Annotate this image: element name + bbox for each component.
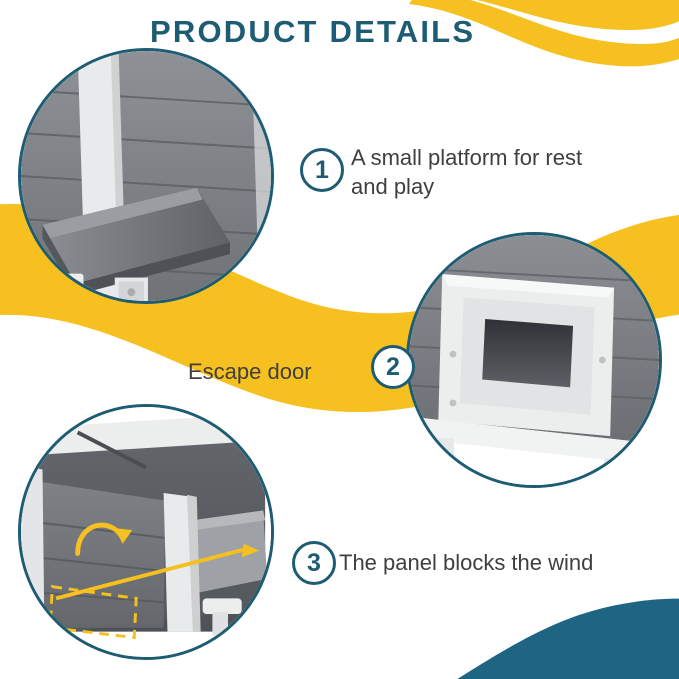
step-badge-2: 2 <box>371 345 415 389</box>
product-photo-escape-door <box>406 232 662 488</box>
step-caption-1: A small platform for rest and play <box>351 143 591 201</box>
step-badge-1: 1 <box>300 148 344 192</box>
product-details-page: PRODUCT DETAILS <box>0 0 679 679</box>
escape-door-photo-illustration <box>409 235 659 485</box>
wind-panel-photo-illustration <box>21 407 271 657</box>
page-title: PRODUCT DETAILS <box>150 14 475 50</box>
teal-arc-bottom-decoration <box>389 589 679 679</box>
platform-photo-illustration <box>21 51 271 301</box>
product-photo-platform <box>18 48 274 304</box>
step-caption-2: Escape door <box>188 357 368 386</box>
product-photo-wind-panel <box>18 404 274 660</box>
step-badge-3: 3 <box>292 541 336 585</box>
step-caption-3: The panel blocks the wind <box>339 548 669 577</box>
